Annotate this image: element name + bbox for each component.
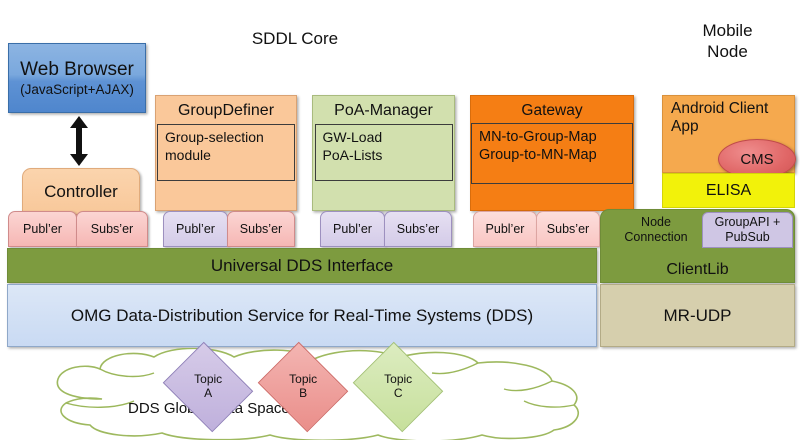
poa-manager-title: PoA-Manager bbox=[313, 102, 454, 120]
groupdefiner-box[interactable]: GroupDefiner Group-selection module bbox=[155, 95, 297, 211]
sddl-core-heading: SDDL Core bbox=[225, 28, 365, 49]
controller-subscriber-tab[interactable]: Subs’er bbox=[76, 211, 148, 247]
gateway-subscriber-tab[interactable]: Subs’er bbox=[536, 211, 600, 247]
android-client-app-title: Android Client App bbox=[663, 96, 800, 137]
topic-a-label: Topic A bbox=[194, 373, 222, 401]
bidirectional-arrow-icon bbox=[68, 116, 90, 166]
architecture-diagram: SDDL Core Mobile Node Web Browser (JavaS… bbox=[0, 0, 800, 440]
groupdefiner-subscriber-tab[interactable]: Subs’er bbox=[227, 211, 295, 247]
web-browser-title: Web Browser bbox=[9, 59, 145, 81]
poa-manager-publisher-tab[interactable]: Publ’er bbox=[320, 211, 385, 247]
gateway-publisher-tab[interactable]: Publ’er bbox=[473, 211, 537, 247]
mobile-node-heading: Mobile Node bbox=[665, 20, 790, 63]
groupdefiner-detail: Group-selection module bbox=[157, 124, 295, 181]
groupdefiner-publisher-tab[interactable]: Publ’er bbox=[163, 211, 228, 247]
gateway-box[interactable]: Gateway MN-to-Group-Map Group-to-MN-Map bbox=[470, 95, 634, 211]
omg-dds-band: OMG Data-Distribution Service for Real-T… bbox=[7, 284, 597, 347]
controller-title: Controller bbox=[23, 182, 139, 202]
universal-dds-interface-band: Universal DDS Interface bbox=[7, 248, 597, 283]
groupdefiner-title: GroupDefiner bbox=[156, 102, 296, 120]
mr-udp-band: MR-UDP bbox=[600, 284, 795, 347]
poa-manager-box[interactable]: PoA-Manager GW-Load PoA-Lists bbox=[312, 95, 455, 211]
topic-b-label: Topic B bbox=[289, 373, 317, 401]
web-browser-box[interactable]: Web Browser (JavaScript+AJAX) bbox=[8, 43, 146, 113]
controller-publisher-tab[interactable]: Publ’er bbox=[8, 211, 77, 247]
topic-c-label: Topic C bbox=[384, 373, 412, 401]
clientlib-label: ClientLib bbox=[601, 261, 794, 279]
gateway-title: Gateway bbox=[471, 102, 633, 120]
elisa-box[interactable]: ELISA bbox=[662, 173, 795, 208]
poa-manager-detail: GW-Load PoA-Lists bbox=[315, 124, 453, 181]
gateway-detail: MN-to-Group-Map Group-to-MN-Map bbox=[471, 123, 633, 184]
web-browser-subtitle: (JavaScript+AJAX) bbox=[9, 82, 145, 98]
poa-manager-subscriber-tab[interactable]: Subs’er bbox=[384, 211, 452, 247]
node-connection-label[interactable]: Node Connection bbox=[612, 212, 700, 248]
group-api-pubsub-box[interactable]: GroupAPI + PubSub bbox=[702, 212, 793, 248]
controller-box[interactable]: Controller bbox=[22, 168, 140, 215]
